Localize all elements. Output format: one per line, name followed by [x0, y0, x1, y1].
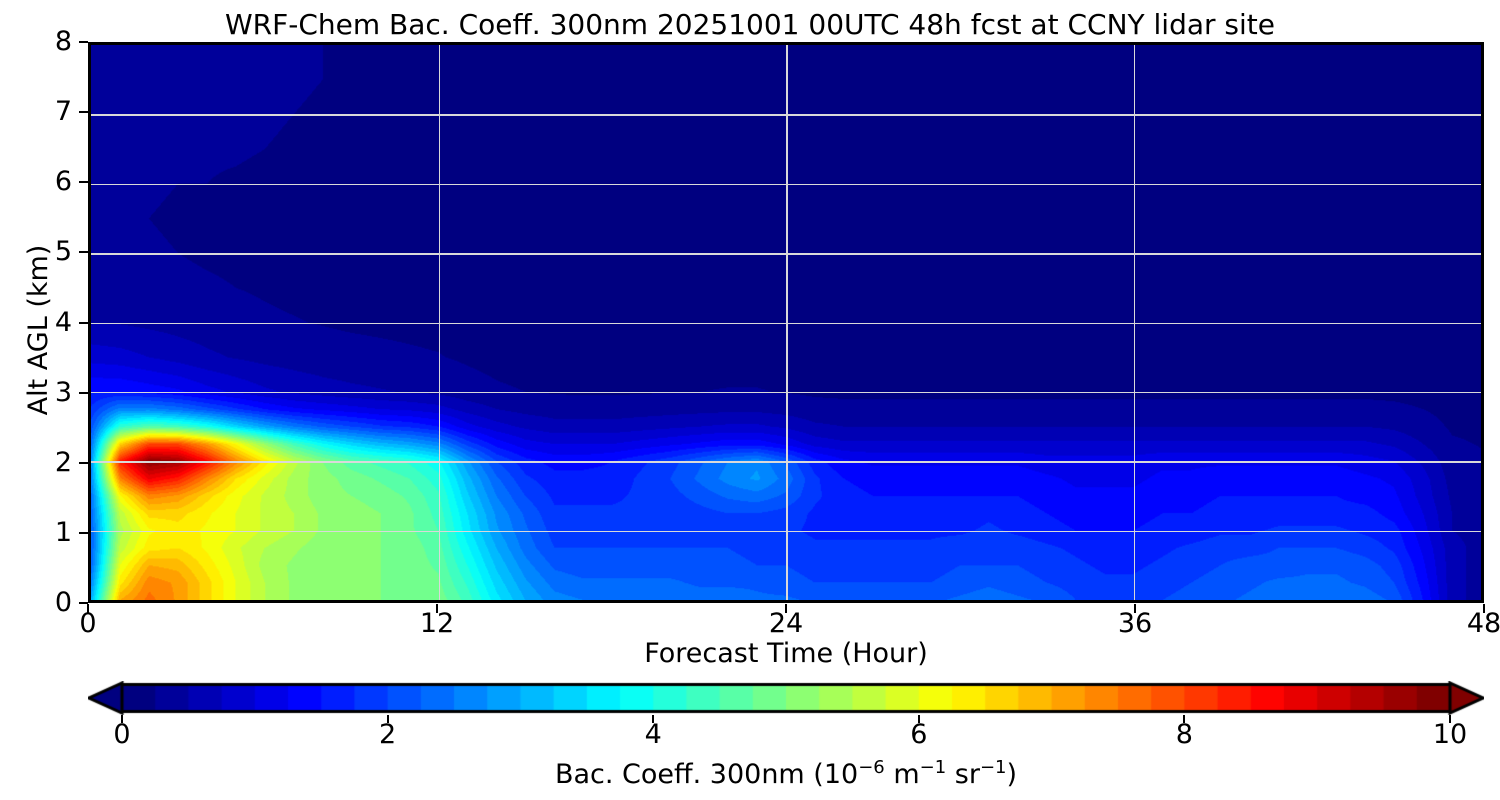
y-tick-label: 1 — [20, 519, 72, 546]
y-tick-label: 7 — [20, 98, 72, 125]
colorbar-gradient — [88, 681, 1484, 715]
y-tick-mark — [79, 41, 88, 43]
colorbar-label-tail: ) — [1006, 759, 1017, 790]
x-tick-label: 36 — [1095, 610, 1175, 637]
colorbar-tick-label: 2 — [348, 721, 428, 748]
figure-canvas: WRF-Chem Bac. Coeff. 300nm 20251001 00UT… — [0, 0, 1500, 800]
colorbar-tick-label: 8 — [1144, 721, 1224, 748]
y-tick-mark — [79, 462, 88, 464]
colorbar-tick-label: 0 — [82, 721, 162, 748]
colorbar-label: Bac. Coeff. 300nm (10−6 m−1 sr−1) — [88, 757, 1484, 790]
colorbar-label-mid2: sr — [946, 759, 980, 790]
colorbar-tick-label: 4 — [613, 721, 693, 748]
colorbar — [88, 681, 1484, 715]
x-tick-label: 24 — [746, 610, 826, 637]
x-tick-label: 0 — [48, 610, 128, 637]
colorbar-tick-label: 10 — [1410, 721, 1490, 748]
y-tick-label: 8 — [20, 28, 72, 55]
y-tick-mark — [79, 392, 88, 394]
y-tick-mark — [79, 181, 88, 183]
contour-field — [91, 45, 1481, 600]
colorbar-label-lead: Bac. Coeff. 300nm (10 — [555, 759, 858, 790]
y-axis-label: Alt AGL (km) — [24, 180, 54, 480]
colorbar-tick-label: 6 — [879, 721, 959, 748]
y-tick-mark — [79, 111, 88, 113]
x-tick-label: 48 — [1444, 610, 1500, 637]
colorbar-exponent-3: −1 — [980, 757, 1007, 778]
x-tick-label: 12 — [397, 610, 477, 637]
y-tick-mark — [79, 322, 88, 324]
y-tick-mark — [79, 532, 88, 534]
colorbar-exponent-1: −6 — [858, 757, 885, 778]
colorbar-label-mid: m — [885, 759, 920, 790]
page-title: WRF-Chem Bac. Coeff. 300nm 20251001 00UT… — [0, 8, 1500, 41]
y-tick-mark — [79, 251, 88, 253]
colorbar-exponent-2: −1 — [920, 757, 947, 778]
contour-plot-axes — [88, 42, 1484, 603]
x-axis-label: Forecast Time (Hour) — [88, 638, 1484, 669]
